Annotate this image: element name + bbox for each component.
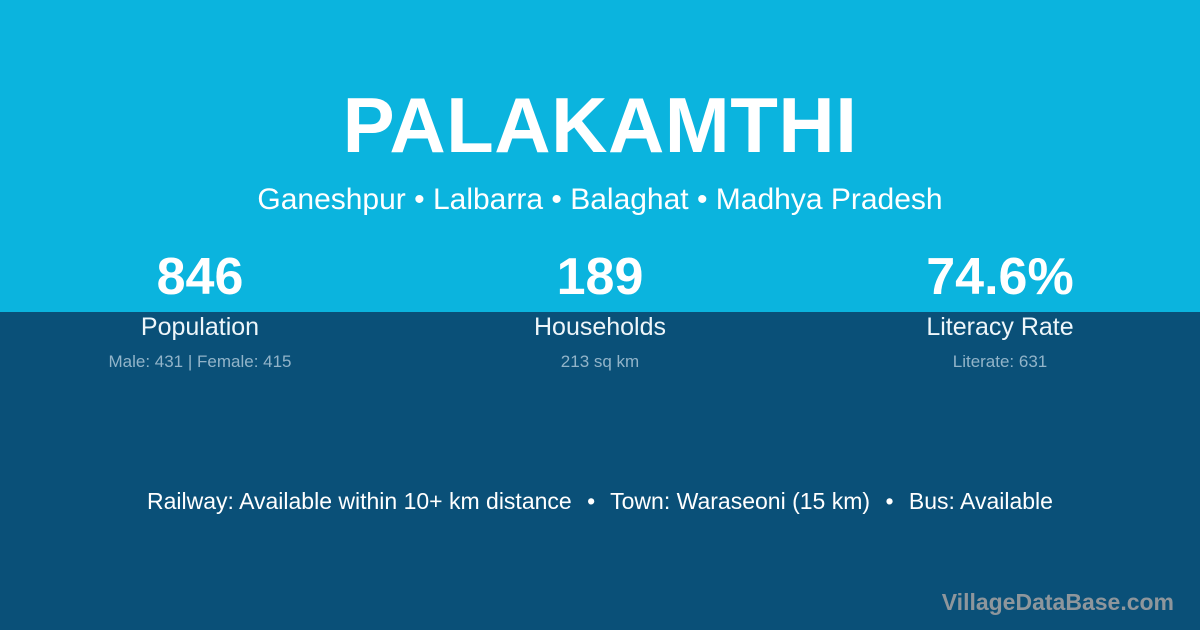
card-content: PALAKAMTHI Ganeshpur • Lalbarra • Balagh… xyxy=(0,0,1200,630)
railway-info: Railway: Available within 10+ km distanc… xyxy=(147,488,572,514)
stat-sublabel: Male: 431 | Female: 415 xyxy=(0,351,400,372)
site-brand-watermark: VillageDataBase.com xyxy=(942,588,1174,616)
stat-value: 74.6% xyxy=(800,246,1200,308)
town-info: Town: Waraseoni (15 km) xyxy=(610,488,870,514)
village-info-card: PALAKAMTHI Ganeshpur • Lalbarra • Balagh… xyxy=(0,0,1200,630)
stat-households: 189 Households 213 sq km xyxy=(400,246,800,372)
info-separator-bullet: • xyxy=(876,488,902,514)
village-title: PALAKAMTHI xyxy=(0,82,1200,168)
info-separator-bullet: • xyxy=(578,488,604,514)
stat-value: 189 xyxy=(400,246,800,308)
stat-literacy-rate: 74.6% Literacy Rate Literate: 631 xyxy=(800,246,1200,372)
amenities-info-line: Railway: Available within 10+ km distanc… xyxy=(0,486,1200,516)
bus-info: Bus: Available xyxy=(909,488,1053,514)
stat-value: 846 xyxy=(0,246,400,308)
stat-label: Literacy Rate xyxy=(800,312,1200,342)
stats-row: 846 Population Male: 431 | Female: 415 1… xyxy=(0,246,1200,372)
stat-sublabel: Literate: 631 xyxy=(800,351,1200,372)
stat-sublabel: 213 sq km xyxy=(400,351,800,372)
stat-label: Population xyxy=(0,312,400,342)
stat-population: 846 Population Male: 431 | Female: 415 xyxy=(0,246,400,372)
stat-label: Households xyxy=(400,312,800,342)
location-breadcrumb: Ganeshpur • Lalbarra • Balaghat • Madhya… xyxy=(0,181,1200,219)
